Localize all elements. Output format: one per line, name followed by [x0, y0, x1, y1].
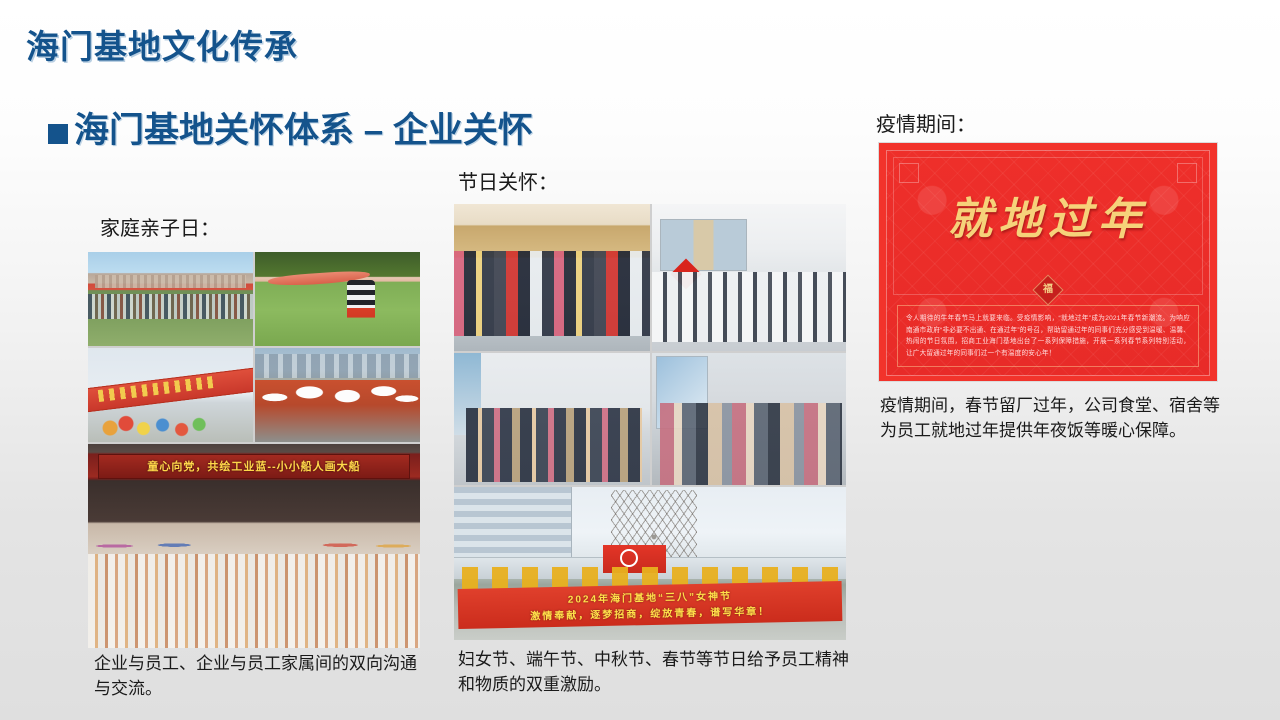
- background-building: [454, 487, 572, 567]
- photo-indoor-group-wood-wall: [454, 204, 650, 351]
- family-day-label: 家庭亲子日：: [100, 212, 220, 241]
- page-title: 海门基地文化传承: [26, 20, 298, 68]
- section-heading: 海门基地关怀体系 – 企业关怀: [48, 112, 533, 151]
- stay-local-new-year-poster: 就地过年 福 令人期待的牛年春节马上就要来临。受疫情影响，“就地过年”成为202…: [878, 142, 1218, 382]
- family-day-caption: 企业与员工、企业与员工家属间的双向沟通与交流。: [94, 652, 424, 701]
- hall-banner-text: 童心向党，共绘工业蓝--小小船人画大船: [98, 454, 410, 478]
- festival-care-label: 节日关怀：: [458, 166, 558, 195]
- square-bullet-icon: [48, 124, 68, 144]
- festival-care-photo-grid: 2024年海门基地“三八”女神节 激情奉献，逐梦招商，绽放青春，谱写华章！: [454, 204, 846, 640]
- photo-group-photo-on-lawn: [88, 252, 253, 346]
- photo-office-group-with-flowers: [652, 353, 846, 485]
- photo-workshop-employees: [652, 204, 846, 351]
- hall-children-row: [88, 554, 420, 648]
- family-day-photo-grid: 童心向党，共绘工业蓝--小小船人画大船: [88, 252, 420, 644]
- poster-headline: 就地过年: [887, 151, 1209, 279]
- poster-inner-frame: 就地过年 福 令人期待的牛年春节马上就要来临。受疫情影响，“就地过年”成为202…: [886, 150, 1210, 376]
- photo-crowd-with-white-helmets: [255, 348, 420, 442]
- balloon-decorations: [91, 410, 249, 440]
- festival-care-caption: 妇女节、端午节、中秋节、春节等节日给予员工精神和物质的双重激励。: [458, 648, 850, 697]
- photo-indoor-hall-children-painting: 童心向党，共绘工业蓝--小小船人画大船: [88, 444, 420, 648]
- womens-day-banner: 2024年海门基地“三八”女神节 激情奉献，逐梦招商，绽放青春，谱写华章！: [458, 581, 843, 629]
- epidemic-period-caption: 疫情期间，春节留厂过年，公司食堂、宿舍等为员工就地过年提供年夜饭等暖心保障。: [880, 394, 1220, 443]
- photo-child-with-racket: [255, 252, 420, 346]
- epidemic-period-label: 疫情期间：: [876, 108, 976, 137]
- photo-corridor-group-with-gifts: [454, 353, 650, 485]
- fortune-seal-char: 福: [1043, 285, 1053, 295]
- poster-body-text: 令人期待的牛年春节马上就要来临。受疫情影响，“就地过年”成为2021年春节新潮流…: [897, 305, 1199, 367]
- red-diamond-decor: [671, 258, 702, 289]
- photo-red-banner-balloons: [88, 348, 253, 442]
- photo-womens-day-outdoor-banner: 2024年海门基地“三八”女神节 激情奉献，逐梦招商，绽放青春，谱写华章！: [454, 487, 846, 640]
- womens-day-banner-line2: 激情奉献，逐梦招商，绽放青春，谱写华章！: [530, 603, 770, 623]
- section-heading-label: 海门基地关怀体系 – 企业关怀: [74, 112, 533, 151]
